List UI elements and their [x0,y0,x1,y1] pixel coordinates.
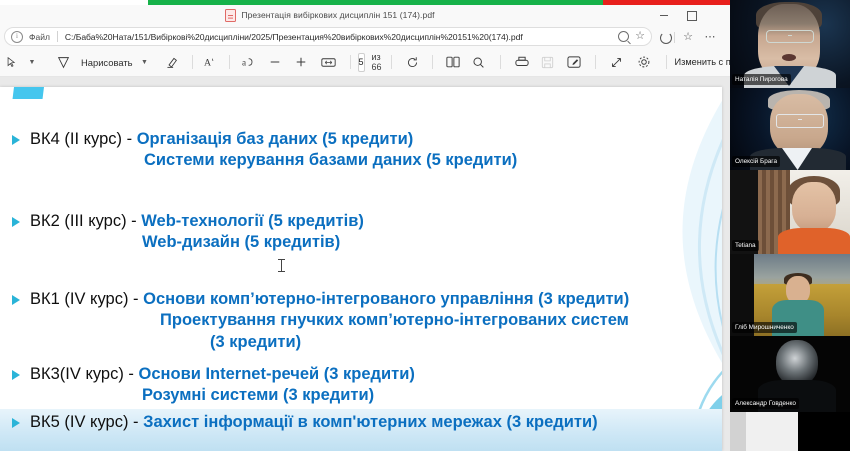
participant-name: Олексій Брага [732,156,780,167]
window-minimize-button[interactable] [657,9,670,22]
collections-icon[interactable]: ☆ [680,29,696,45]
page-load-progress-bar [0,0,730,5]
slide-item-3: ВК1 (IV курс) - Основи комп’ютерно-інтег… [12,289,629,353]
select-tool-icon[interactable] [0,51,22,73]
progress-segment-red [603,0,730,5]
item-subline: Системи керування базами даних (5 кредит… [30,150,517,171]
slide-item-1: ВК4 (II курс) - Організація баз даних (5… [12,129,517,172]
item-code: ВК3(IV курс) - [30,365,139,383]
annotate-icon[interactable] [561,51,587,73]
item-line: ВК1 (IV курс) - Основи комп’ютерно-інтег… [30,289,629,310]
window-titlebar: Презентація вибіркових дисциплін 151 (17… [0,5,730,25]
item-code: ВК5 (IV курс) - [30,413,143,431]
text-cursor-icon [281,259,282,272]
participant-name: Tetiana [732,240,759,251]
page-total-label: из 66 [372,52,382,72]
item-subline: Web-дизайн (5 кредитів) [30,232,364,253]
item-subline: Розумні системи (3 кредити) [30,385,415,406]
item-subline: Проектування гнучких комп’ютерно-інтегро… [30,310,629,331]
zoom-out-button[interactable] [263,51,287,73]
pdf-file-icon [225,9,236,22]
item-title: Основи комп’ютерно-інтегрованого управлі… [143,290,629,308]
participant-tile[interactable]: Александр Говденко [730,336,850,412]
browser-window: Презентація вибіркових дисциплін 151 (17… [0,0,730,451]
participant-tile-partial[interactable] [730,412,850,451]
item-title: Захист інформації в комп'ютерних мережах… [143,413,597,431]
item-line: ВК5 (IV курс) - Захист інформації в комп… [30,412,598,433]
slide-item-4: ВК3(IV курс) - Основи Internet-речей (3 … [12,364,415,407]
pdf-page: ВК4 (II курс) - Організація баз даних (5… [0,87,722,451]
progress-segment-green [148,0,603,5]
participant-tile[interactable]: Гліб Мирошниченко [730,254,850,336]
item-title: Основи Internet-речей (3 кредити) [139,365,415,383]
bullet-triangle-icon [12,295,20,305]
zoom-in-button[interactable] [287,51,315,73]
draw-button[interactable]: Нарисовать [76,51,133,73]
fullscreen-icon[interactable] [604,51,630,73]
bullet-triangle-icon [12,135,20,145]
draw-chevron-icon[interactable]: ▼ [133,51,153,73]
draw-label: Нарисовать [81,57,133,68]
url-scheme-label: Файл [29,32,50,42]
participant-name: Александр Говденко [732,398,799,409]
fit-page-icon[interactable] [315,51,343,73]
url-text[interactable]: C:/Баба%20Ната/151/Вибіркові%20дисциплін… [65,32,618,42]
star-icon[interactable]: ☆ [635,31,645,42]
site-info-icon[interactable]: i [11,31,23,43]
item-code: ВК4 (II курс) - [30,130,137,148]
bullet-triangle-icon [12,418,20,428]
eraser-icon[interactable] [159,51,185,73]
bullet-triangle-icon [12,370,20,380]
slide-item-2: ВК2 (III курс) - Web-технології (5 креди… [12,211,364,254]
participant-name: Наталія Пирогова [732,74,791,85]
window-maximize-button[interactable] [685,9,698,22]
zoom-out-icon[interactable] [618,31,629,42]
window-close-button[interactable] [711,9,724,22]
edit-with-acrobat-button[interactable]: Изменить с помощью Acrobat [675,57,730,67]
document-title: Презентація вибіркових дисциплін 151 (17… [241,10,434,20]
slide-content: ВК4 (II курс) - Організація баз даних (5… [0,87,722,451]
address-bar[interactable]: i Файл C:/Баба%20Ната/151/Вибіркові%20ди… [4,27,652,46]
video-participants-rail[interactable]: Наталія Пирогова Олексій Брага Tetiana Г… [730,0,850,451]
screen-root: Презентація вибіркових дисциплін 151 (17… [0,0,850,451]
svg-text:A: A [204,57,211,68]
item-code: ВК1 (IV курс) - [30,290,143,308]
rotate-icon[interactable] [401,51,425,73]
page-view-icon[interactable] [440,51,466,73]
divider [674,32,675,43]
read-aloud-icon[interactable]: a [237,51,263,73]
pdf-toolbar: ▼ Нарисовать ▼ A a [0,48,730,77]
select-tool-chevron-icon[interactable]: ▼ [22,51,38,73]
draw-icon[interactable] [50,51,76,73]
bullet-triangle-icon [12,217,20,227]
item-line: ВК4 (II курс) - Організація баз даних (5… [30,129,517,150]
participant-tile[interactable]: Олексій Брага [730,88,850,170]
document-title-area: Презентація вибіркових дисциплін 151 (17… [0,5,660,25]
print-icon[interactable] [509,51,535,73]
participant-name: Гліб Мирошниченко [732,322,797,333]
pdf-viewport[interactable]: ВК4 (II курс) - Організація баз даних (5… [0,77,730,451]
divider [57,31,58,42]
item-line: ВК2 (III курс) - Web-технології (5 креди… [30,211,364,232]
page-number-input[interactable]: 5 [358,53,365,72]
svg-text:a: a [242,57,246,67]
history-icon[interactable] [658,29,674,45]
item-title: Web-технології (5 кредитів) [141,212,364,230]
item-subline: (3 кредити) [30,332,629,353]
slide-item-5: ВК5 (IV курс) - Захист інформації в комп… [12,412,598,433]
address-bar-row: i Файл C:/Баба%20Ната/151/Вибіркові%20ди… [0,26,730,47]
search-icon[interactable] [466,51,492,73]
item-title: Організація баз даних (5 кредити) [137,130,414,148]
text-style-icon[interactable]: A [200,51,222,73]
item-line: ВК3(IV курс) - Основи Internet-речей (3 … [30,364,415,385]
ellipsis-icon[interactable]: ⋯ [702,29,718,45]
gear-icon[interactable] [630,51,658,73]
save-icon[interactable] [535,51,561,73]
participant-tile[interactable]: Tetiana [730,170,850,254]
item-code: ВК2 (III курс) - [30,212,141,230]
participant-tile[interactable]: Наталія Пирогова [730,0,850,88]
